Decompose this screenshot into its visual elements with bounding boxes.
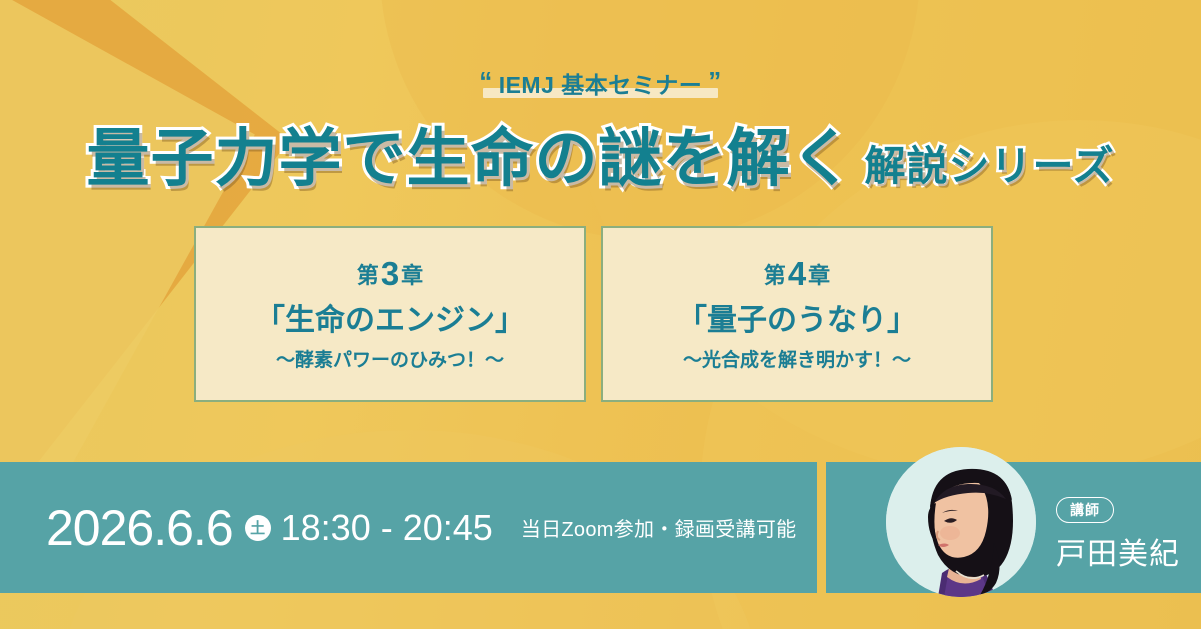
quote-open-icon: “ — [473, 66, 499, 96]
chapter-number-prefix: 第 — [357, 263, 379, 288]
chapter-number-digit: 4 — [786, 255, 808, 292]
chapter-list: 第3章 「生命のエンジン」 〜酵素パワーのひみつ！〜 第4章 「量子のうなり」 … — [194, 226, 993, 402]
chapter-card-3[interactable]: 第3章 「生命のエンジン」 〜酵素パワーのひみつ！〜 — [194, 226, 586, 402]
weekday-badge: 土 — [245, 515, 271, 541]
instructor-name: 戸田美紀 — [1056, 529, 1196, 573]
chapter-number-digit: 3 — [379, 255, 401, 292]
chapter-number-4: 第4章 — [764, 257, 830, 290]
chapter-card-4[interactable]: 第4章 「量子のうなり」 〜光合成を解き明かす！〜 — [601, 226, 993, 402]
chapter-number-suffix: 章 — [401, 263, 423, 288]
chapter-lead-4: 〜光合成を解き明かす！〜 — [683, 345, 911, 372]
instructor-role-badge: 講師 — [1056, 497, 1114, 523]
schedule-row: 2026.6.6 土 18:30 - 20:45 当日Zoom参加・録画受講可能 — [46, 462, 796, 593]
chapter-number-suffix: 章 — [808, 263, 830, 288]
chapter-number-prefix: 第 — [764, 263, 786, 288]
instructor-avatar — [886, 447, 1036, 597]
chapter-title-4: 「量子のうなり」 — [677, 304, 917, 337]
instructor-portrait-icon — [886, 447, 1036, 597]
event-time: 18:30 - 20:45 — [281, 510, 493, 546]
chapter-number-3: 第3章 — [357, 257, 423, 290]
chapter-lead-3: 〜酵素パワーのひみつ！〜 — [276, 345, 504, 372]
page-title: 量子力学で生命の謎を解く解説シリーズ — [0, 108, 1201, 199]
title-main: 量子力学で生命の謎を解く — [87, 108, 855, 199]
subtitle-row: “IEMJ 基本セミナー” — [0, 66, 1201, 106]
seminar-banner: “IEMJ 基本セミナー” 量子力学で生命の謎を解く解説シリーズ 第3章 「生命… — [0, 0, 1201, 629]
subtitle: “IEMJ 基本セミナー” — [473, 72, 728, 98]
quote-close-icon: ” — [702, 66, 728, 96]
chapter-title-3: 「生命のエンジン」 — [255, 304, 525, 337]
title-sub: 解説シリーズ — [865, 132, 1115, 192]
attendance-note: 当日Zoom参加・録画受講可能 — [521, 513, 797, 542]
subtitle-label: IEMJ 基本セミナー — [499, 72, 703, 98]
instructor-info: 講師 戸田美紀 — [1056, 497, 1196, 573]
event-date: 2026.6.6 — [46, 503, 233, 553]
